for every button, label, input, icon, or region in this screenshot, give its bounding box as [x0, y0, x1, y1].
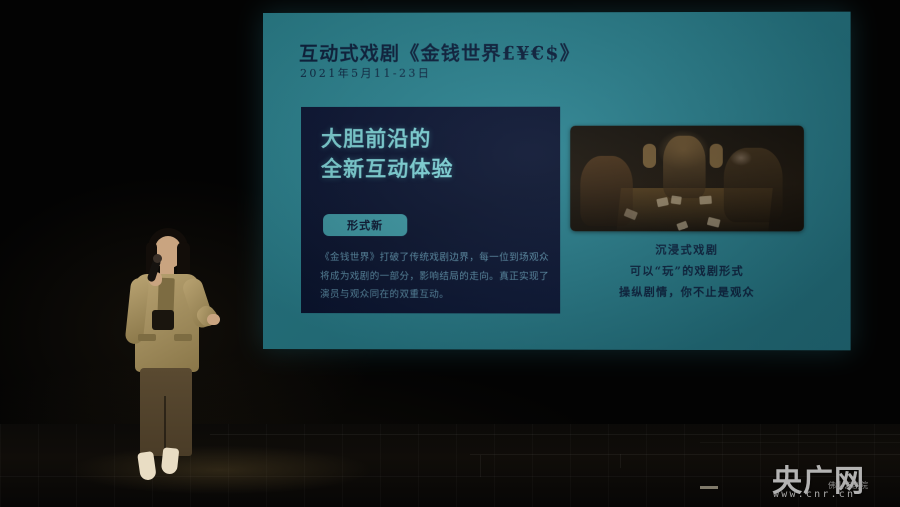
slide-title: 互动式戏剧《金钱世界£¥€$》: [299, 38, 580, 66]
media-caption-2: 可以“玩”的戏剧形式: [570, 262, 804, 278]
projected-slide: 互动式戏剧《金钱世界£¥€$》 2021年5月11-23日 大胆前沿的 全新互动…: [263, 12, 851, 351]
thumbnail-hand-right: [710, 144, 723, 168]
slide-media-thumbnail: [570, 126, 804, 232]
slide-headline: 大胆前沿的 全新互动体验: [321, 125, 453, 185]
presenter-pocket-left: [138, 334, 156, 341]
presenter-trousers: [140, 368, 192, 456]
slide-body-text: 《金钱世界》打破了传统戏剧边界，每一位到场观众将成为戏剧的一部分，影响结局的走向…: [320, 249, 549, 305]
thumbnail-card: [671, 195, 682, 204]
media-caption-3: 操纵剧情，你不止是观众: [570, 283, 804, 299]
floor-seam: [480, 455, 481, 477]
presenter: [108, 228, 236, 486]
thumbnail-figure-center: [663, 136, 705, 198]
floor-line: [700, 442, 900, 443]
presenter-shoe-right: [161, 447, 180, 475]
floor-debris: [700, 486, 718, 489]
watermark: 央广网 佛山云剧院 www.cnr.cn: [772, 456, 896, 504]
floor-seam: [620, 454, 621, 468]
slide-content-panel: 大胆前沿的 全新互动体验 形式新 《金钱世界》打破了传统戏剧边界，每一位到场观众…: [301, 107, 560, 314]
thumbnail-face-right: [730, 150, 752, 166]
presenter-hand-right: [207, 314, 220, 325]
stage-light-pool: [40, 430, 470, 500]
media-caption-1: 沉浸式戏剧: [570, 241, 804, 257]
slide-headline-line2: 全新互动体验: [321, 155, 453, 185]
microphone-head: [153, 254, 162, 263]
presenter-pocket-right: [174, 334, 192, 341]
slide-badge: 形式新: [323, 214, 407, 236]
stage-photo: 互动式戏剧《金钱世界£¥€$》 2021年5月11-23日 大胆前沿的 全新互动…: [0, 0, 900, 507]
thumbnail-card: [699, 196, 712, 205]
watermark-url: www.cnr.cn: [773, 489, 855, 500]
thumbnail-hand-left: [643, 144, 656, 168]
floor-seam: [470, 454, 900, 455]
slide-badge-label: 形式新: [347, 217, 383, 233]
slide-date: 2021年5月11-23日: [300, 65, 431, 81]
slide-headline-line1: 大胆前沿的: [321, 125, 453, 155]
presenter-inner-top: [152, 310, 174, 330]
